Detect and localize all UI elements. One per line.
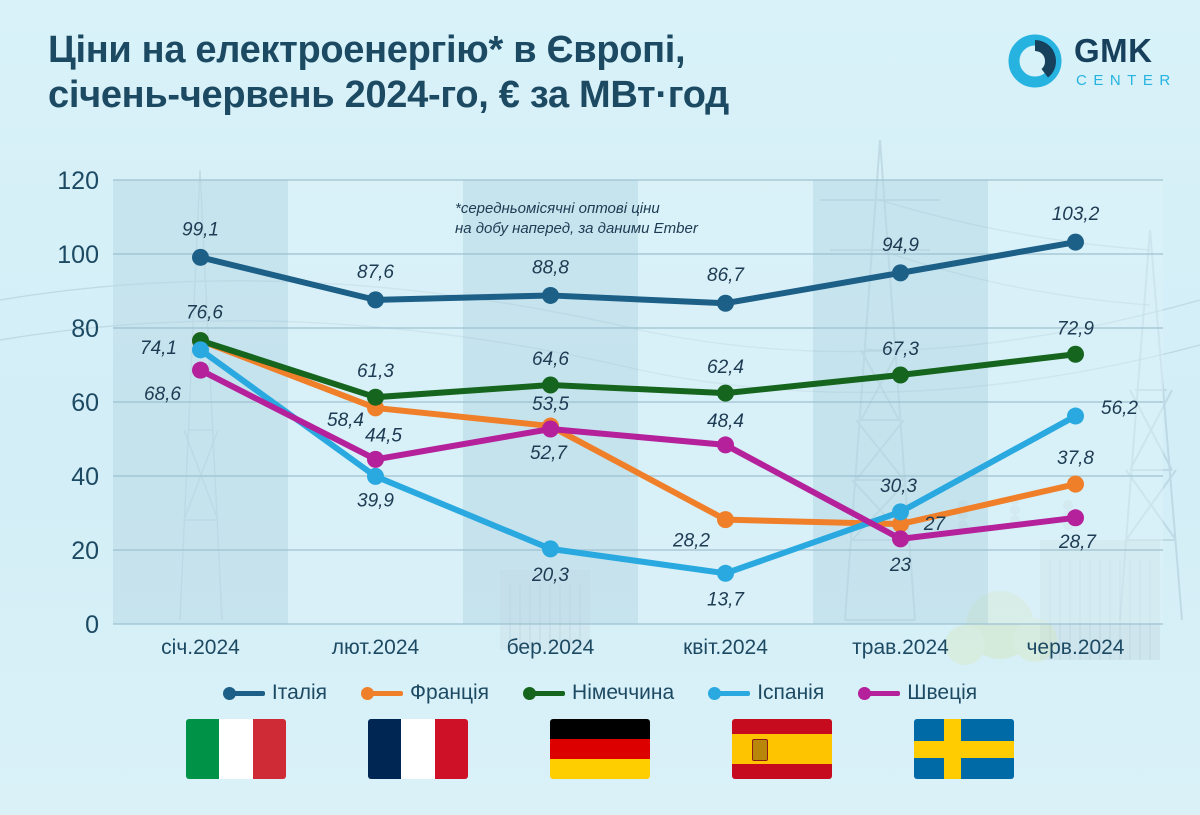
data-label: 28,7 — [1058, 532, 1097, 553]
data-point — [717, 385, 734, 402]
legend-dot-icon — [708, 687, 721, 700]
legend-label: Франція — [410, 681, 489, 705]
data-label: 68,6 — [144, 384, 181, 405]
data-point — [542, 287, 559, 304]
data-label: 76,6 — [186, 303, 223, 324]
legend-label: Іспанія — [757, 681, 824, 705]
data-point — [717, 565, 734, 582]
data-point — [542, 376, 559, 393]
data-label: 99,1 — [182, 219, 219, 240]
data-point — [1067, 476, 1084, 493]
x-axis-tick-label: трав.2024 — [852, 636, 949, 659]
legend-marker-icon — [361, 685, 403, 701]
data-point — [892, 264, 909, 281]
legend-item-1[interactable]: Франція — [361, 681, 489, 705]
legend-dot-icon — [223, 687, 236, 700]
data-label: 103,2 — [1052, 204, 1100, 225]
title-line-1: Ціни на електроенергію* в Європі, — [48, 28, 948, 73]
x-axis-tick-label: січ.2024 — [161, 636, 240, 659]
data-label: 48,4 — [707, 411, 744, 432]
page-title: Ціни на електроенергію* в Європі, січень… — [48, 28, 948, 118]
flag-cross-horizontal — [914, 741, 1014, 758]
legend-line-icon — [370, 691, 403, 696]
y-axis-tick-label: 40 — [71, 463, 99, 491]
flag-stripe — [550, 719, 650, 739]
flag-stripe — [253, 719, 286, 779]
data-point — [892, 530, 909, 547]
legend-label: Італія — [272, 681, 327, 705]
y-axis-tick-label: 100 — [57, 241, 99, 269]
data-label: 87,6 — [357, 262, 394, 283]
data-point — [1067, 408, 1084, 425]
data-point — [542, 421, 559, 438]
data-label: 64,6 — [532, 349, 569, 370]
data-label: 13,7 — [707, 589, 745, 610]
data-label: 44,5 — [365, 425, 402, 446]
data-point — [367, 451, 384, 468]
country-flags-row — [0, 716, 1200, 782]
legend-line-icon — [867, 691, 900, 696]
header: Ціни на електроенергію* в Європі, січень… — [0, 0, 1200, 150]
data-point — [892, 366, 909, 383]
y-axis-tick-label: 0 — [85, 611, 99, 639]
flag-stripe — [732, 719, 832, 734]
data-label: 28,2 — [672, 531, 710, 552]
legend-item-0[interactable]: Італія — [223, 681, 327, 705]
legend-marker-icon — [858, 685, 900, 701]
data-label: 88,8 — [532, 257, 569, 278]
data-label: 30,3 — [880, 476, 917, 497]
italy-flag — [186, 719, 286, 779]
chart-legend: ІталіяФранціяНімеччинаІспаніяШвеція — [0, 676, 1200, 710]
spain-flag — [732, 719, 832, 779]
data-point — [892, 503, 909, 520]
france-flag — [368, 719, 468, 779]
data-point — [717, 295, 734, 312]
legend-item-4[interactable]: Швеція — [858, 681, 977, 705]
data-point — [542, 540, 559, 557]
data-label: 58,4 — [327, 410, 364, 431]
data-point — [367, 468, 384, 485]
legend-item-2[interactable]: Німеччина — [523, 681, 674, 705]
data-point — [192, 249, 209, 266]
legend-dot-icon — [361, 687, 374, 700]
legend-line-icon — [532, 691, 565, 696]
data-point — [192, 341, 209, 358]
flag-stripe — [732, 764, 832, 779]
legend-dot-icon — [858, 687, 871, 700]
y-axis-tick-label: 80 — [71, 315, 99, 343]
coat-of-arms-icon — [752, 739, 768, 761]
data-label: 72,9 — [1057, 318, 1094, 339]
data-label: 23 — [889, 555, 912, 576]
legend-line-icon — [717, 691, 750, 696]
flag-stripe — [368, 719, 401, 779]
data-point — [717, 511, 734, 528]
x-axis-tick-label: бер.2024 — [507, 636, 595, 659]
gmk-ring-icon — [1008, 34, 1062, 88]
title-line-2: січень-червень 2024-го, € за МВт·год — [48, 73, 948, 118]
x-axis-tick-label: черв.2024 — [1026, 636, 1124, 659]
data-label: 53,5 — [532, 394, 569, 415]
sweden-flag — [914, 719, 1014, 779]
y-axis-tick-label: 120 — [57, 167, 99, 195]
data-point — [367, 291, 384, 308]
y-axis-tick-label: 20 — [71, 537, 99, 565]
flag-stripe — [401, 719, 434, 779]
flag-stripe — [732, 734, 832, 764]
flag-stripe — [219, 719, 252, 779]
data-label: 67,3 — [882, 339, 919, 360]
data-label: 74,1 — [140, 338, 177, 359]
legend-marker-icon — [223, 685, 265, 701]
legend-marker-icon — [708, 685, 750, 701]
data-point — [717, 436, 734, 453]
x-axis-tick-label: квіт.2024 — [683, 636, 768, 659]
data-point — [367, 389, 384, 406]
logo-wordmark: GMK — [1074, 32, 1153, 70]
y-axis-tick-label: 60 — [71, 389, 99, 417]
legend-dot-icon — [523, 687, 536, 700]
data-point — [192, 362, 209, 379]
data-label: 56,2 — [1101, 398, 1138, 419]
footnote-line-2: на добу наперед, за даними Ember — [455, 220, 699, 237]
data-label: 39,9 — [357, 490, 394, 511]
data-label: 37,8 — [1057, 448, 1094, 469]
footnote-line-1: *середньомісячні оптові ціни — [455, 200, 660, 217]
flag-stripe — [186, 719, 219, 779]
data-label: 61,3 — [357, 361, 394, 382]
legend-label: Німеччина — [572, 681, 674, 705]
data-label: 52,7 — [530, 443, 568, 464]
germany-flag — [550, 719, 650, 779]
data-label: 20,3 — [531, 565, 569, 586]
data-point — [1067, 346, 1084, 363]
data-point — [1067, 509, 1084, 526]
legend-marker-icon — [523, 685, 565, 701]
flag-stripe — [550, 759, 650, 779]
gmk-center-logo: GMK CENTER — [1008, 32, 1178, 100]
data-label: 62,4 — [707, 357, 744, 378]
legend-label: Швеція — [907, 681, 977, 705]
legend-line-icon — [232, 691, 265, 696]
data-point — [1067, 234, 1084, 251]
data-label: 94,9 — [882, 235, 919, 256]
data-label: 86,7 — [707, 265, 745, 286]
data-label: 27 — [923, 514, 947, 535]
x-axis-tick-label: лют.2024 — [332, 636, 420, 659]
flag-stripe — [435, 719, 468, 779]
flag-stripe — [550, 739, 650, 759]
logo-subtitle: CENTER — [1076, 72, 1177, 89]
legend-item-3[interactable]: Іспанія — [708, 681, 824, 705]
